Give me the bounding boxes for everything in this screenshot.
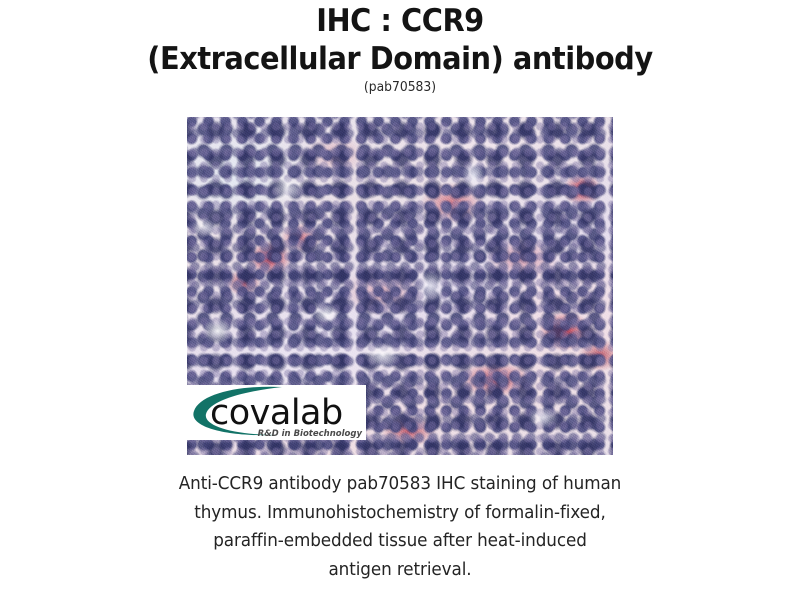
title-block: IHC : CCR9 (Extracellular Domain) antibo… <box>0 2 800 97</box>
figure-page: IHC : CCR9 (Extracellular Domain) antibo… <box>0 0 800 600</box>
catalog-number: (pab70583) <box>20 79 780 97</box>
covalab-logo: covalab R&D in Biotechnology <box>186 385 366 440</box>
caption-line-3: paraffin-embedded tissue after heat-indu… <box>112 527 688 556</box>
figure-caption: Anti-CCR9 antibody pab70583 IHC staining… <box>100 470 700 584</box>
covalab-wordmark: covalab <box>210 393 343 433</box>
caption-line-4: antigen retrieval. <box>112 556 688 585</box>
covalab-tagline: R&D in Biotechnology <box>258 429 363 439</box>
caption-line-1: Anti-CCR9 antibody pab70583 IHC staining… <box>112 470 688 499</box>
page-title: IHC : CCR9 <box>28 2 772 40</box>
caption-line-2: thymus. Immunohistochemistry of formalin… <box>112 499 688 528</box>
page-subtitle: (Extracellular Domain) antibody <box>28 40 772 79</box>
covalab-logo-graphic: covalab R&D in Biotechnology <box>186 385 366 440</box>
